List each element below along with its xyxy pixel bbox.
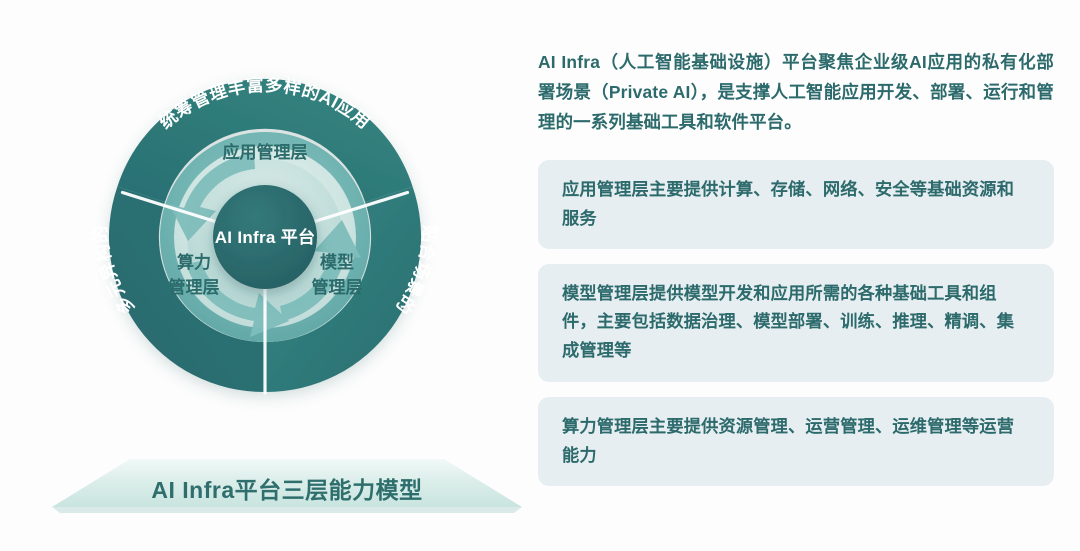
info-card-application-layer: 应用管理层主要提供计算、存储、网络、安全等基础资源和服务 — [538, 160, 1054, 249]
layer-label-compute-line1: 算力 — [176, 252, 211, 272]
layer-label-model-line2: 管理层 — [312, 277, 363, 297]
info-card-model-layer-text: 模型管理层提供模型开发和应用所需的各种基础工具和组件，主要包括数据治理、模型部署… — [562, 283, 1014, 361]
info-card-compute-layer-text: 算力管理层主要提供资源管理、运营管理、运维管理等运营能力 — [562, 416, 1014, 465]
capability-wheel: AI Infra 平台 应用管理层 算力 管理层 模型 管理层 统筹管理丰富多样… — [40, 12, 490, 472]
info-card-application-layer-text: 应用管理层主要提供计算、存储、网络、安全等基础资源和服务 — [562, 179, 1014, 228]
core-label: AI Infra 平台 — [215, 227, 316, 247]
layer-label-model-line1: 模型 — [320, 252, 354, 272]
layer-label-application: 应用管理层 — [223, 142, 308, 162]
diagram-panel: AI Infra 平台 应用管理层 算力 管理层 模型 管理层 统筹管理丰富多样… — [0, 0, 520, 551]
info-card-compute-layer: 算力管理层主要提供资源管理、运营管理、运维管理等运营能力 — [538, 397, 1054, 486]
intro-paragraph: AI Infra（人工智能基础设施）平台聚焦企业级AI应用的私有化部署场景（Pr… — [538, 48, 1054, 138]
text-panel: AI Infra（人工智能基础设施）平台聚焦企业级AI应用的私有化部署场景（Pr… — [528, 0, 1080, 551]
pedestal: AI Infra平台三层能力模型 — [52, 455, 522, 515]
layer-label-compute-line2: 管理层 — [169, 277, 220, 297]
pedestal-caption: AI Infra平台三层能力模型 — [52, 471, 522, 505]
diagram-page: AI Infra 平台 应用管理层 算力 管理层 模型 管理层 统筹管理丰富多样… — [0, 0, 1080, 551]
info-card-model-layer: 模型管理层提供模型开发和应用所需的各种基础工具和组件，主要包括数据治理、模型部署… — [538, 264, 1054, 383]
